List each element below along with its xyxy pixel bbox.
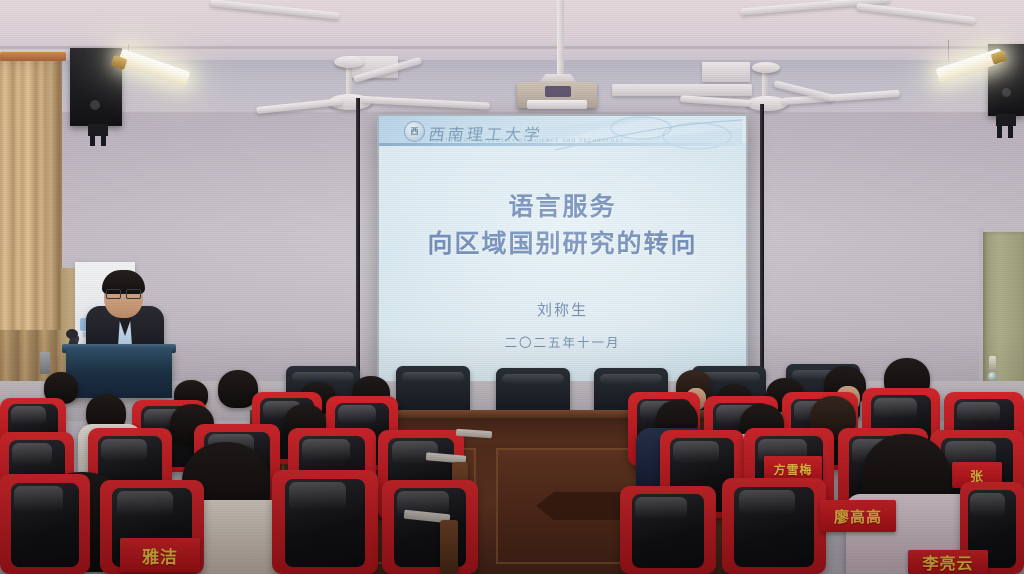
microphone-capsule [66,329,78,339]
slide-author: 刘称生 [379,299,746,320]
audience-seat[interactable] [272,470,378,574]
glasses-icon [106,289,141,297]
audience-seat[interactable] [722,478,826,574]
curtain-rod [0,52,66,61]
placard-text: 方雪梅 [773,461,812,478]
lecture-hall-photo: 西 西南理工大学 SOUTHWEST UNIVERSITY OF SCIENCE… [0,0,1024,574]
door-handle[interactable] [989,356,996,371]
name-placard: 廖高高 [820,500,896,532]
door-lock[interactable] [988,372,997,381]
slide-title-line-2: 向区域国别研究的转向 [379,225,746,262]
podium-icon [66,348,172,398]
speaker-leg-right-b [1008,124,1013,138]
seat-armrest [440,520,458,574]
projector-lens [527,100,587,109]
fan-downrod-left [356,98,360,380]
audience-seat[interactable] [0,474,90,574]
slide-date: 二〇二五年十一月 [379,332,746,351]
slide-surface: 西 西南理工大学 SOUTHWEST UNIVERSITY OF SCIENCE… [379,116,746,383]
placard-text: 廖高高 [834,506,882,527]
crest-glyph: 西 [411,128,419,136]
speaker-leg-left-a [90,134,95,146]
ceiling-seam [0,46,1024,49]
ceiling-fan-left [258,56,488,116]
slide-title-line-1: 语言服务 [379,188,746,225]
audience-seat[interactable] [620,486,716,574]
placard-text: 雅洁 [142,543,178,568]
university-crest-icon: 西 [404,121,425,142]
slide-title: 语言服务 向区域国别研究的转向 [379,188,746,262]
fan-downrod-right [760,104,764,376]
projection-screen: 西 西南理工大学 SOUTHWEST UNIVERSITY OF SCIENCE… [377,114,748,385]
water-bottle [40,352,50,374]
speaker-leg-left-b [101,134,106,146]
audience-seat[interactable] [382,480,478,574]
name-placard: 李亮云 [908,550,988,574]
light-wire-right [948,40,949,62]
placard-text: 李亮云 [922,550,973,574]
name-placard: 雅洁 [120,538,200,572]
projector-ports [545,86,571,97]
university-name-english: SOUTHWEST UNIVERSITY OF SCIENCE AND TECH… [431,139,624,144]
projector-mount-rod [557,0,564,82]
speaker-leg-right-a [997,124,1002,138]
